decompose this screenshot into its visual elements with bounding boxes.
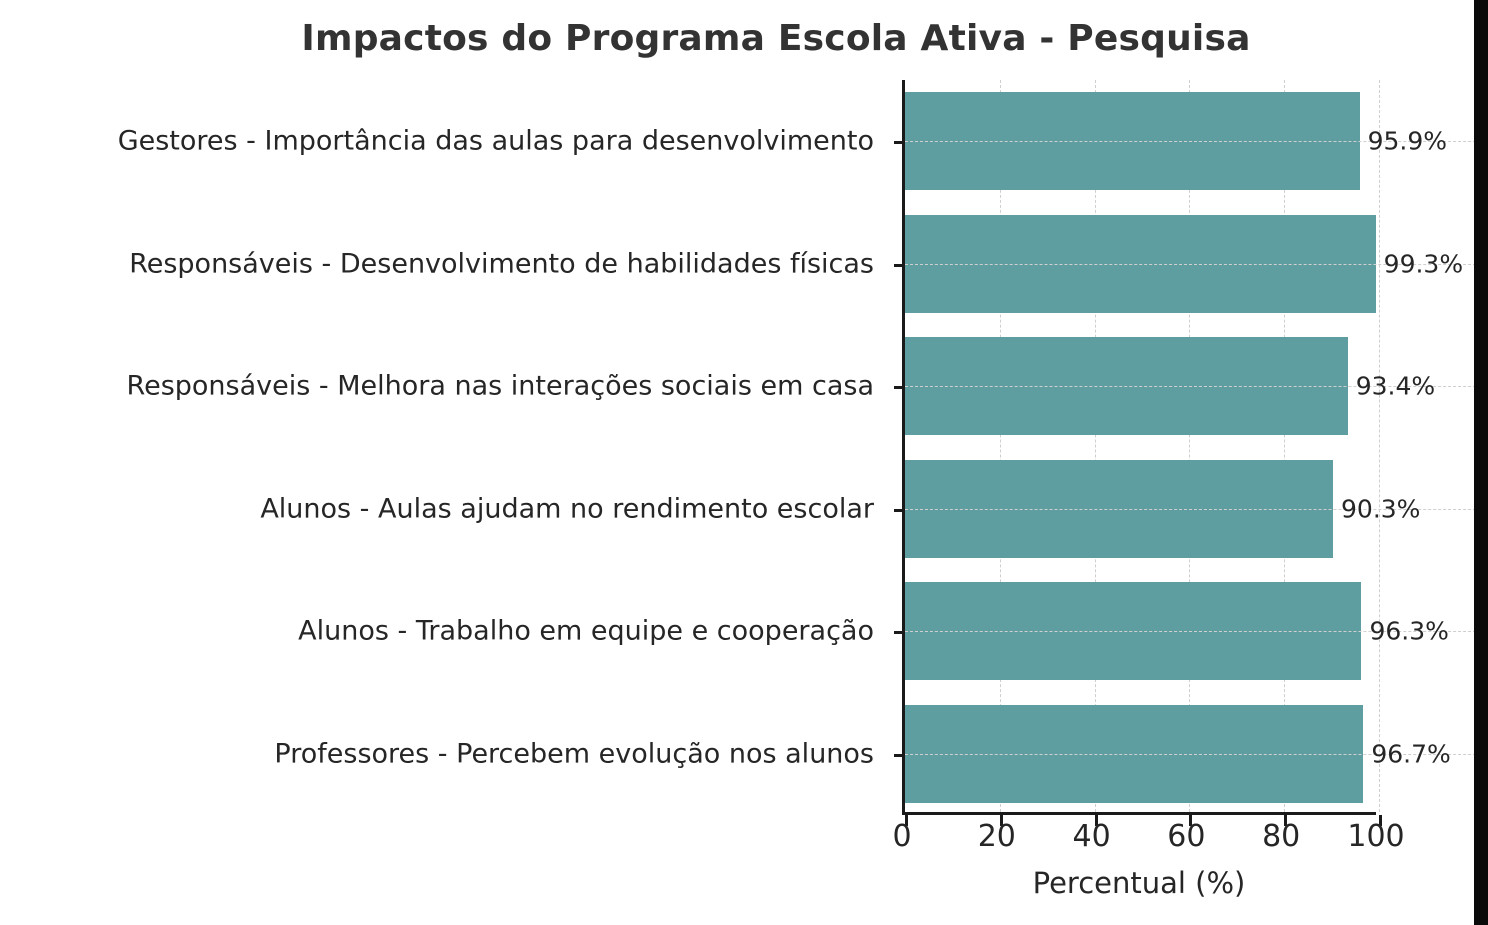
y-axis-category-label: Gestores - Importância das aulas para de… xyxy=(118,128,874,155)
bar-value-label: 90.3% xyxy=(1341,496,1420,521)
y-tick-mark xyxy=(894,386,905,389)
y-axis-tick-labels: Gestores - Importância das aulas para de… xyxy=(0,80,888,815)
bar-value-label: 93.4% xyxy=(1356,374,1435,399)
bar-value-label: 96.3% xyxy=(1369,619,1448,644)
x-tick-label: 60 xyxy=(1167,822,1205,852)
plot-area: 95.9%99.3%93.4%90.3%96.3%96.7% xyxy=(902,80,1376,815)
y-axis-category-label: Alunos - Trabalho em equipe e cooperação xyxy=(298,618,874,645)
y-axis-category-label: Alunos - Aulas ajudam no rendimento esco… xyxy=(260,495,874,522)
x-tick-label: 40 xyxy=(1073,822,1111,852)
x-axis-tick-labels: 020406080100 xyxy=(902,822,1376,862)
bar-value-label: 99.3% xyxy=(1384,251,1463,276)
bar-value-label: 95.9% xyxy=(1368,129,1447,154)
x-tick-label: 0 xyxy=(892,822,911,852)
x-tick-label: 100 xyxy=(1347,822,1404,852)
y-tick-mark xyxy=(894,631,905,634)
chart-title: Impactos do Programa Escola Ativa - Pesq… xyxy=(0,18,1488,59)
x-axis-title: Percentual (%) xyxy=(902,866,1376,900)
bar-value-label: 96.7% xyxy=(1371,741,1450,766)
screen-edge-band xyxy=(1474,0,1488,925)
y-tick-mark xyxy=(894,509,905,512)
x-tick-label: 20 xyxy=(978,822,1016,852)
y-tick-mark xyxy=(894,141,905,144)
y-axis-category-label: Responsáveis - Desenvolvimento de habili… xyxy=(129,250,874,277)
x-tick-label: 80 xyxy=(1262,822,1300,852)
y-tick-mark xyxy=(894,754,905,757)
x-gridline xyxy=(1379,80,1380,812)
y-axis-category-label: Professores - Percebem evolução nos alun… xyxy=(274,740,874,767)
bar-chart-figure: Impactos do Programa Escola Ativa - Pesq… xyxy=(0,0,1488,925)
y-tick-mark xyxy=(894,264,905,267)
y-axis-category-label: Responsáveis - Melhora nas interações so… xyxy=(127,373,874,400)
